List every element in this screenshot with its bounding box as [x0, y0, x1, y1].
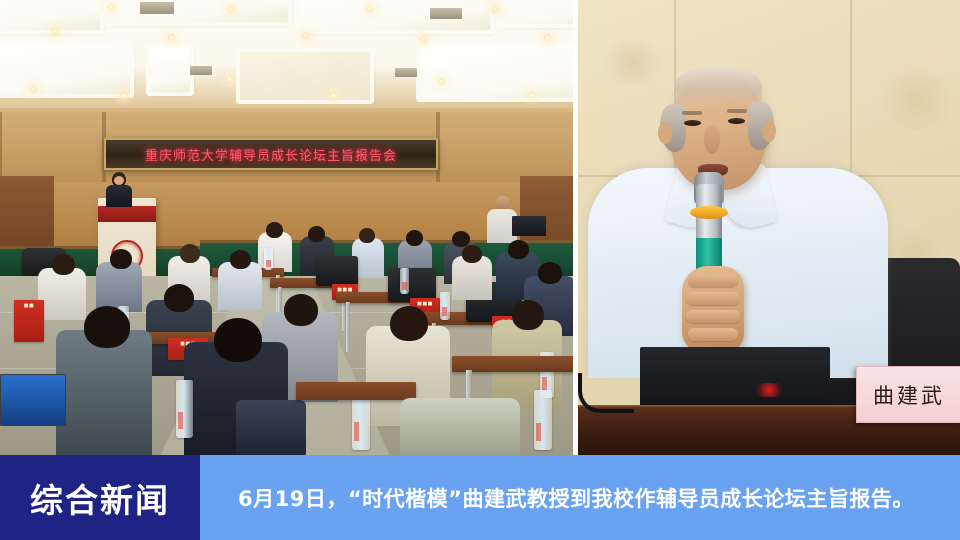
ceiling-downlight	[30, 86, 37, 93]
photo-speaker: 曲建武	[578, 0, 960, 455]
ceiling-coffer	[240, 52, 370, 100]
ceiling-downlight	[438, 78, 445, 85]
auditorium-scene: 重庆师范大学辅导员成长论坛主旨报告会	[0, 0, 573, 455]
finger	[686, 292, 740, 305]
audience-person	[38, 268, 86, 320]
speaker-eye-right	[728, 118, 745, 124]
audience-head	[512, 300, 544, 330]
speaker-eye-left	[684, 120, 701, 126]
speaker-hair	[674, 66, 762, 106]
water-bottle	[176, 380, 193, 438]
ceiling-coffer	[150, 48, 190, 92]
ceiling-vent	[190, 66, 212, 75]
audience-head	[110, 249, 132, 269]
audience-person	[218, 262, 262, 310]
audience-desk	[296, 382, 416, 400]
audience-chair	[388, 268, 436, 302]
ceiling-coffer	[0, 0, 100, 30]
audience-chair	[316, 256, 358, 286]
podium-speaker	[106, 172, 132, 206]
ceiling-downlight	[108, 4, 115, 11]
marble-texture	[874, 70, 960, 130]
podium-red-band	[98, 206, 156, 222]
ceiling-downlight	[168, 34, 175, 41]
desk-name-card: ■■	[14, 300, 44, 342]
ceiling-coffer	[420, 46, 573, 98]
photo-auditorium: 重庆师范大学辅导员成长论坛主旨报告会	[0, 0, 573, 455]
ceiling-coffer	[500, 0, 573, 24]
ceiling-downlight	[302, 32, 309, 39]
ceiling-downlight	[226, 76, 233, 83]
cable	[578, 373, 634, 413]
led-banner: 重庆师范大学辅导员成长论坛主旨报告会	[104, 138, 438, 170]
category-tag[interactable]: 综合新闻	[0, 455, 200, 540]
laptop-logo-icon	[756, 383, 782, 397]
speaker-body	[106, 185, 132, 207]
water-bottle	[264, 248, 273, 270]
caption-body: 6月19日，“时代楷模”曲建武教授到我校作辅导员成长论坛主旨报告。	[200, 455, 960, 540]
audience-head	[308, 226, 325, 242]
ceiling-downlight	[330, 92, 337, 99]
ceiling-vent	[395, 68, 417, 77]
caption-bar: 综合新闻 6月19日，“时代楷模”曲建武教授到我校作辅导员成长论坛主旨报告。	[0, 455, 960, 540]
head-table-laptop	[512, 216, 546, 236]
audience-person-foreground	[56, 330, 152, 455]
nameplate: 曲建武	[856, 366, 960, 423]
ceiling	[0, 0, 573, 118]
speaker-ear-left	[658, 122, 672, 144]
speaker-eyebrow-right	[727, 109, 747, 113]
audience-head	[359, 228, 375, 243]
audience-head	[452, 231, 470, 247]
desk-leg	[346, 302, 350, 352]
led-banner-text: 重庆师范大学辅导员成长论坛主旨报告会	[145, 145, 397, 164]
caption-text: 6月19日，“时代楷模”曲建武教授到我校作辅导员成长论坛主旨报告。	[238, 483, 914, 513]
photo-strip: 重庆师范大学辅导员成长论坛主旨报告会	[0, 0, 960, 455]
ceiling-downlight	[528, 92, 535, 99]
speaker-scene: 曲建武	[578, 0, 960, 455]
audience-person	[96, 262, 142, 312]
ceiling-vent	[140, 2, 174, 14]
category-tag-label: 综合新闻	[30, 474, 170, 522]
finger	[686, 310, 740, 323]
marble-texture	[598, 40, 668, 86]
finger	[688, 274, 738, 287]
ceiling-downlight	[52, 28, 59, 35]
audience-person-foreground	[400, 398, 520, 455]
audience-head	[180, 244, 200, 263]
finger	[688, 328, 738, 341]
audience-head	[84, 306, 130, 348]
audience-head	[230, 250, 251, 269]
ceiling-downlight	[420, 36, 427, 43]
backpack	[236, 400, 306, 455]
audience-head	[390, 306, 428, 341]
ceiling-downlight	[366, 5, 373, 12]
ceiling-downlight	[120, 92, 127, 99]
audience-head	[462, 245, 482, 263]
wall-seam	[850, 0, 852, 175]
microphone-orange-ring	[690, 206, 728, 219]
ceiling-downlight	[492, 6, 499, 13]
news-banner-page: 重庆师范大学辅导员成长论坛主旨报告会	[0, 0, 960, 540]
water-bottle	[534, 390, 552, 450]
ceiling-downlight	[544, 34, 551, 41]
ceiling-downlight	[228, 6, 235, 13]
speaker-face	[114, 176, 124, 185]
nameplate-text: 曲建武	[873, 380, 945, 410]
laptop	[640, 347, 830, 411]
audience-head	[214, 318, 262, 362]
audience-head	[406, 230, 423, 246]
ceiling-coffer	[0, 44, 130, 94]
audience-head	[284, 294, 318, 326]
speaker-eyebrow-left	[682, 111, 702, 115]
audience-head	[164, 284, 194, 312]
audience-head	[52, 254, 75, 275]
ceiling-coffer	[108, 0, 288, 22]
speaker-ear-right	[762, 120, 776, 142]
water-bottle	[440, 292, 450, 320]
water-bottle	[400, 268, 409, 294]
wall-panel	[0, 112, 104, 186]
speaker-nose	[704, 126, 720, 154]
ceiling-vent	[430, 8, 462, 19]
wall-panel	[438, 112, 573, 186]
audience-head	[266, 222, 283, 238]
audience-head	[508, 240, 529, 259]
audience-laptop	[0, 374, 66, 426]
audience-head	[538, 262, 562, 284]
